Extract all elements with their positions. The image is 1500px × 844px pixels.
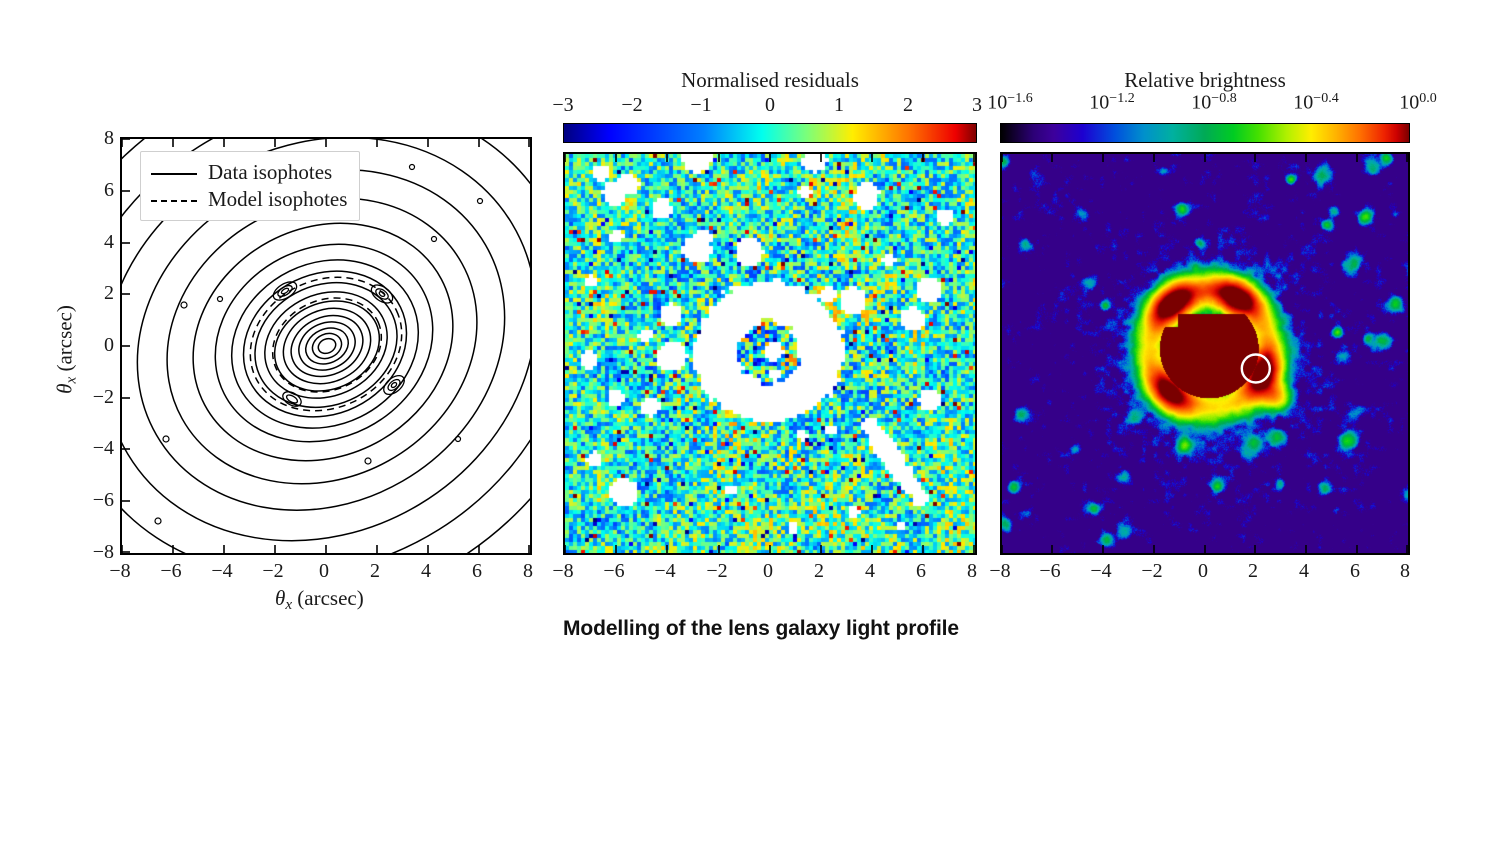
right-xtick-n2: −2	[1132, 561, 1172, 581]
middle-xtick-n4: −4	[645, 561, 685, 581]
right-panel-tickmarks	[1002, 154, 1407, 553]
left-panel-ylabel: θx (arcsec)	[55, 274, 80, 424]
left-panel-xlabel: θx (arcsec)	[275, 588, 364, 613]
right-xtick-n6: −6	[1030, 561, 1070, 581]
left-xtick-n2: −2	[253, 561, 293, 581]
middle-xtick-0: 0	[748, 561, 788, 581]
right-xtick-6: 6	[1335, 561, 1375, 581]
normalised-residuals-colorbar	[563, 123, 977, 143]
right-xtick-2: 2	[1233, 561, 1273, 581]
left-xtick-4: 4	[406, 561, 446, 581]
right-xtick-4: 4	[1284, 561, 1324, 581]
left-ytick-0: 0	[88, 335, 114, 355]
middle-cbtick-0: 0	[753, 95, 787, 115]
normalised-residuals-panel	[563, 152, 977, 555]
isophote-contour-panel: Data isophotes Model isophotes	[120, 137, 532, 555]
middle-cbtick-n3: −3	[546, 95, 580, 115]
left-ytick-n2: −2	[78, 387, 114, 407]
relative-brightness-colorbar	[1000, 123, 1410, 143]
middle-cbtick-n2: −2	[615, 95, 649, 115]
right-xtick-n4: −4	[1081, 561, 1121, 581]
right-cbtick-3: 10−0.4	[1281, 92, 1351, 112]
middle-cbtick-1: 1	[822, 95, 856, 115]
left-ytick-n8: −8	[78, 542, 114, 562]
right-cbtick-4-base: 10	[1399, 91, 1419, 113]
left-ytick-8: 8	[88, 128, 114, 148]
middle-panel-tickmarks	[565, 154, 975, 553]
left-xtick-n6: −6	[151, 561, 191, 581]
left-ytick-6: 6	[88, 180, 114, 200]
right-cbtick-1-exp: −1.2	[1109, 91, 1134, 106]
right-cbtick-1: 10−1.2	[1077, 92, 1147, 112]
right-colorbar-title: Relative brightness	[1000, 70, 1410, 91]
middle-xtick-6: 6	[901, 561, 941, 581]
legend-label-data-isophotes: Data isophotes	[208, 162, 332, 183]
left-ytick-n4: −4	[78, 438, 114, 458]
right-cbtick-0-exp: −1.6	[1007, 91, 1032, 106]
legend-row-data-isophotes: Data isophotes	[151, 159, 347, 186]
figure-caption: Modelling of the lens galaxy light profi…	[563, 618, 959, 639]
middle-colorbar-title: Normalised residuals	[563, 70, 977, 91]
right-cbtick-3-exp: −0.4	[1313, 91, 1338, 106]
solid-line-key	[151, 167, 197, 179]
left-xtick-n4: −4	[202, 561, 242, 581]
legend-label-model-isophotes: Model isophotes	[208, 189, 347, 210]
middle-xtick-2: 2	[799, 561, 839, 581]
left-xtick-2: 2	[355, 561, 395, 581]
right-xtick-0: 0	[1183, 561, 1223, 581]
figure-root: Data isophotes Model isophotes 8 6 4 2 0…	[0, 0, 1500, 844]
left-ytick-n6: −6	[78, 490, 114, 510]
left-xtick-6: 6	[457, 561, 497, 581]
isophote-legend: Data isophotes Model isophotes	[140, 151, 360, 221]
right-cbtick-1-base: 10	[1089, 91, 1109, 113]
right-xtick-n8: −8	[980, 561, 1020, 581]
right-panel-overlay	[1002, 154, 1408, 553]
relative-brightness-panel	[1000, 152, 1410, 555]
right-cbtick-4: 100.0	[1383, 92, 1453, 112]
left-ytick-4: 4	[88, 232, 114, 252]
right-cbtick-2-exp: −0.8	[1211, 91, 1236, 106]
right-cbtick-2-base: 10	[1191, 91, 1211, 113]
left-xtick-n8: −8	[100, 561, 140, 581]
left-ytick-2: 2	[88, 283, 114, 303]
dashed-line-key	[151, 194, 197, 206]
right-cbtick-0: 10−1.6	[975, 92, 1045, 112]
middle-xtick-4: 4	[850, 561, 890, 581]
middle-xtick-n8: −8	[543, 561, 583, 581]
right-cbtick-3-base: 10	[1293, 91, 1313, 113]
middle-cbtick-2: 2	[891, 95, 925, 115]
middle-xtick-n6: −6	[594, 561, 634, 581]
right-cbtick-4-exp: 0.0	[1419, 91, 1437, 106]
left-xtick-0: 0	[304, 561, 344, 581]
right-cbtick-2: 10−0.8	[1179, 92, 1249, 112]
white-circle-marker	[1242, 355, 1270, 383]
left-xtick-8: 8	[508, 561, 548, 581]
right-xtick-8: 8	[1385, 561, 1425, 581]
middle-cbtick-n1: −1	[684, 95, 718, 115]
legend-row-model-isophotes: Model isophotes	[151, 186, 347, 213]
middle-xtick-n2: −2	[697, 561, 737, 581]
right-cbtick-0-base: 10	[987, 91, 1007, 113]
